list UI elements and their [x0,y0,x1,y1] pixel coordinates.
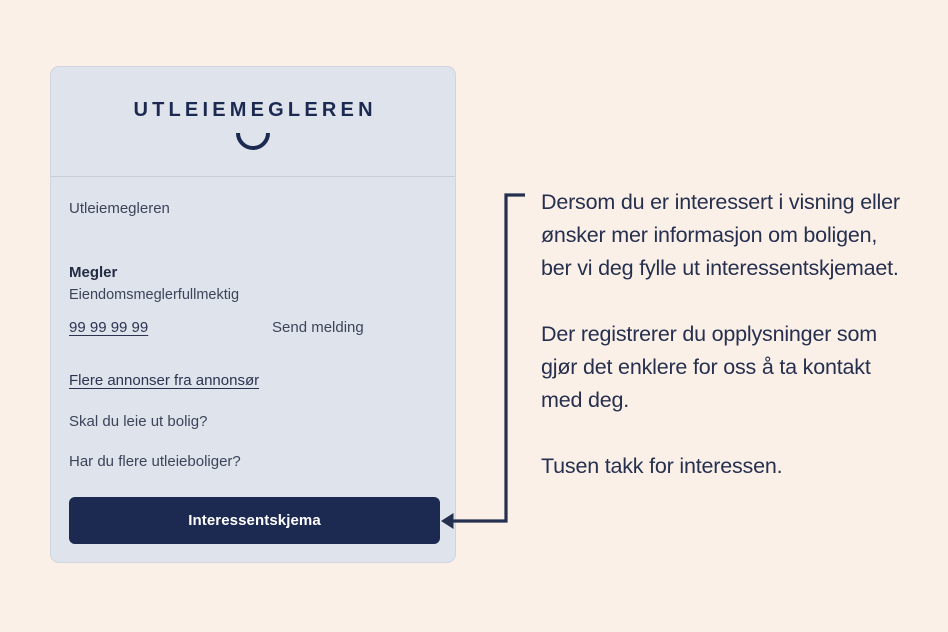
annotation-paragraph-1: Dersom du er interessert i visning eller… [541,186,913,285]
agent-job-title: Eiendomsmeglerfullmektig [69,285,437,307]
annotation-paragraph-2: Der registrerer du opplysninger som gjør… [541,318,913,417]
agent-block: Megler Eiendomsmeglerfullmektig 99 99 99… [69,262,437,337]
smile-arc-icon [235,131,271,151]
more-ads-from-advertiser-link[interactable]: Flere annonser fra annonsør [69,372,259,389]
annotation-paragraph-3: Tusen takk for interessen. [541,450,913,483]
contact-row: 99 99 99 99 Send melding [69,319,437,336]
card-header: UTLEIEMEGLEREN [51,67,455,177]
multiple-rentals-link[interactable]: Har du flere utleieboliger? [69,453,437,470]
rent-out-home-link[interactable]: Skal du leie ut bolig? [69,413,437,430]
broker-contact-card: UTLEIEMEGLEREN Utleiemegleren Megler Eie… [50,66,456,563]
annotation-text-block: Dersom du er interessert i visning eller… [541,186,913,483]
card-body: Utleiemegleren Megler Eiendomsmeglerfull… [51,177,455,561]
links-block: Flere annonser fra annonsør Skal du leie… [69,372,437,470]
organization-name: Utleiemegleren [69,199,437,219]
interessentskjema-button[interactable]: Interessentskjema [69,497,440,544]
brand-logo-text: UTLEIEMEGLEREN [129,100,376,120]
send-message-link[interactable]: Send melding [272,319,364,336]
phone-number-link[interactable]: 99 99 99 99 [69,319,272,336]
agent-role-heading: Megler [69,262,437,284]
